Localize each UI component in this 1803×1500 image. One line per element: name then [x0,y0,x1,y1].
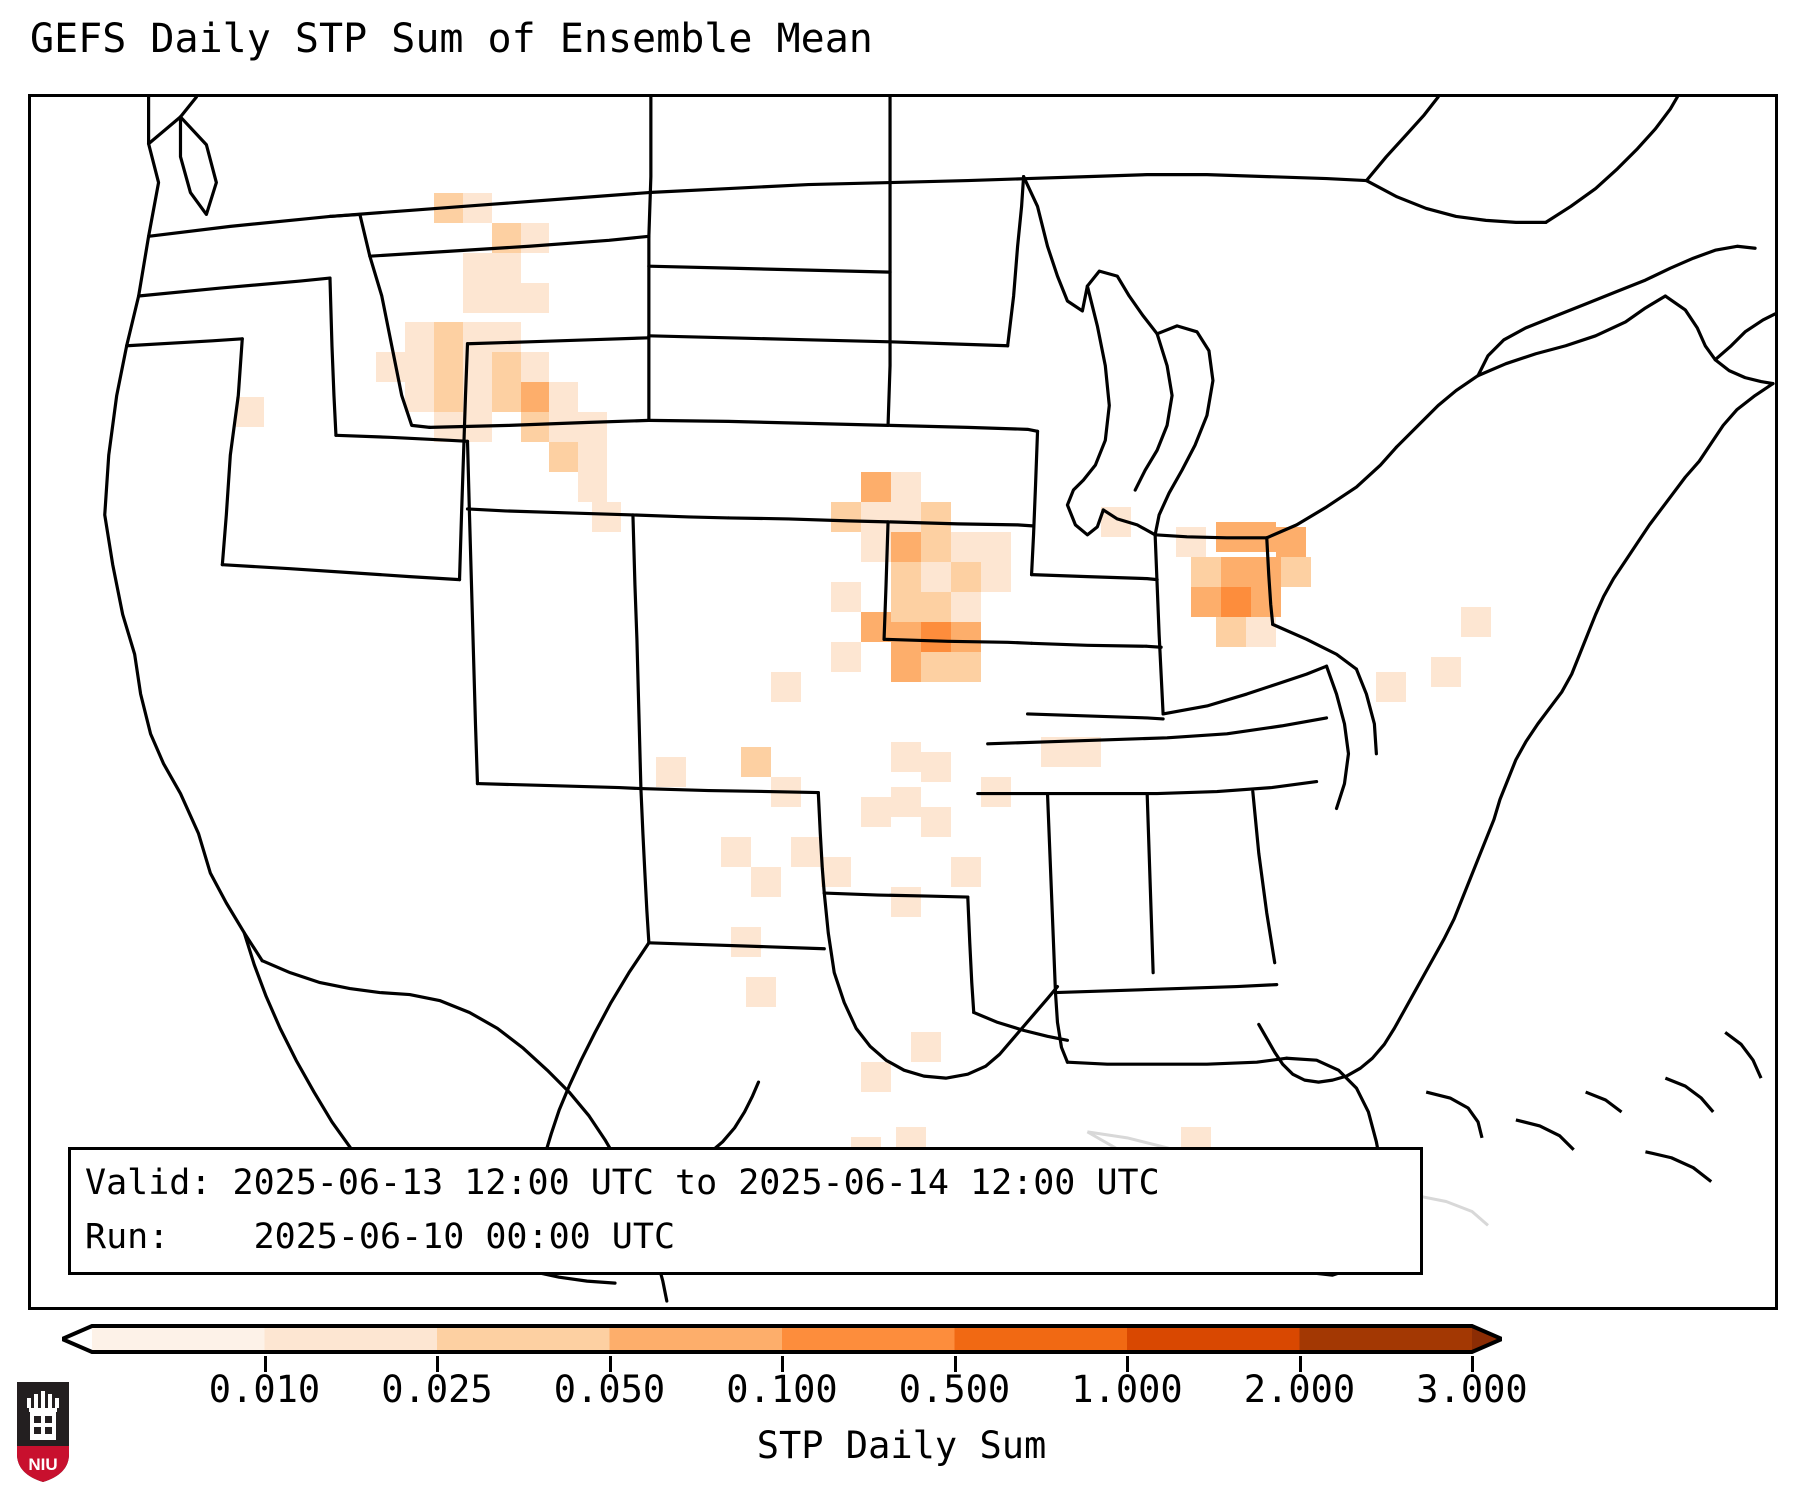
forecast-info-box: Valid: 2025-06-13 12:00 UTC to 2025-06-1… [68,1147,1423,1275]
colorbar-gradient[interactable] [62,1322,1502,1356]
colorbar: 0.0100.0250.0500.1000.5001.0002.0003.000 [0,1316,1803,1436]
colorbar-swatch [437,1326,610,1352]
colorbar-tick-label: 3.000 [1416,1368,1527,1411]
colorbar-tick-label: 0.025 [381,1368,492,1411]
colorbar-tick-label: 0.050 [554,1368,665,1411]
colorbar-swatch [610,1326,783,1352]
colorbar-tick-labels: 0.0100.0250.0500.1000.5001.0002.0003.000 [0,1368,1803,1418]
run-time-text: Run: 2025-06-10 00:00 UTC [85,1210,1406,1264]
map-plot-area: Valid: 2025-06-13 12:00 UTC to 2025-06-1… [28,94,1778,1310]
colorbar-swatch [782,1326,955,1352]
colorbar-swatch [1127,1326,1300,1352]
niu-logo-text: NIU [28,1455,57,1474]
page-title: GEFS Daily STP Sum of Ensemble Mean [30,16,873,62]
colorbar-tick-label: 2.000 [1244,1368,1355,1411]
colorbar-tick-label: 0.500 [899,1368,1010,1411]
geography-outlines [31,97,1775,1307]
colorbar-swatch [955,1326,1128,1352]
colorbar-axis-label: STP Daily Sum [0,1424,1803,1467]
niu-shield-logo: NIU [14,1380,72,1484]
valid-time-text: Valid: 2025-06-13 12:00 UTC to 2025-06-1… [85,1156,1406,1210]
colorbar-swatch [265,1326,438,1352]
colorbar-swatch [92,1326,265,1352]
colorbar-swatch [1300,1326,1473,1352]
colorbar-tick-label: 0.100 [726,1368,837,1411]
colorbar-tick-label: 0.010 [209,1368,320,1411]
colorbar-tick-label: 1.000 [1071,1368,1182,1411]
